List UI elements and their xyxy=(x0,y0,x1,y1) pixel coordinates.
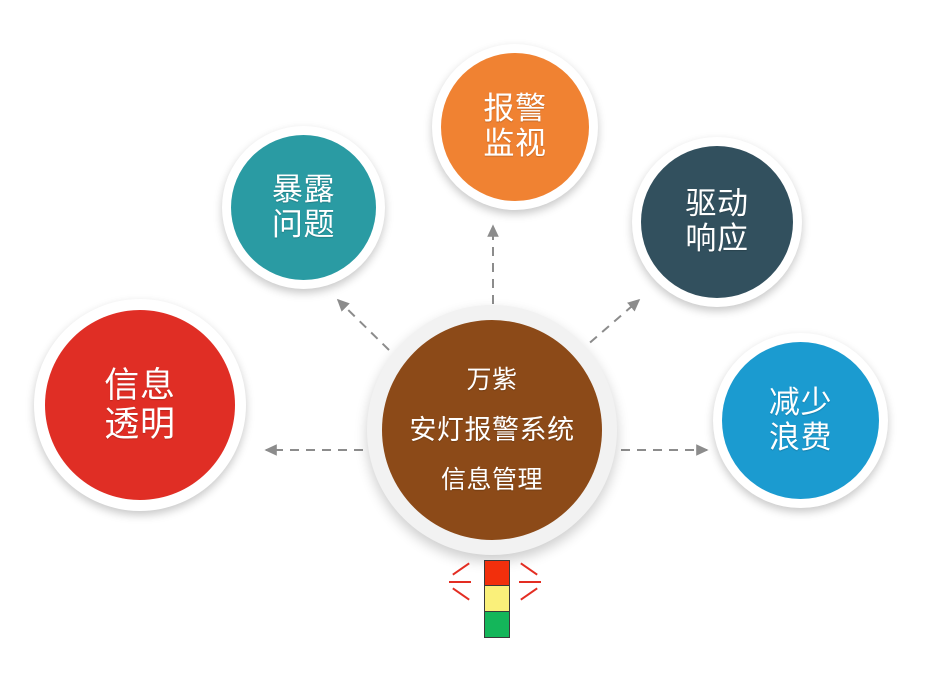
satellite-node-waste-line-1: 减少 xyxy=(769,386,832,421)
satellite-node-drive-disc: 驱动 响应 xyxy=(641,146,793,298)
satellite-node-info-line-2: 透明 xyxy=(104,405,175,444)
center-node[interactable]: 万紫 安灯报警系统 信息管理 xyxy=(367,305,617,555)
satellite-node-info[interactable]: 信息 透明 xyxy=(34,299,246,511)
satellite-node-info-disc: 信息 透明 xyxy=(45,310,235,500)
andon-ray-right-down xyxy=(520,587,538,600)
satellite-node-alarm-line-2: 监视 xyxy=(483,127,546,162)
andon-lamp-green xyxy=(485,612,509,637)
andon-tower xyxy=(484,560,510,638)
andon-ray-right-mid xyxy=(519,581,541,583)
andon-lamp-red xyxy=(485,561,509,586)
center-node-disc: 万紫 安灯报警系统 信息管理 xyxy=(382,320,602,540)
satellite-node-drive[interactable]: 驱动 响应 xyxy=(632,137,802,307)
satellite-node-waste[interactable]: 减少 浪费 xyxy=(713,333,888,508)
diagram-canvas: 万紫 安灯报警系统 信息管理 暴露 问题 报警 监视 驱动 响应 信息 透明 xyxy=(0,0,939,680)
satellite-node-alarm[interactable]: 报警 监视 xyxy=(432,44,598,210)
andon-ray-right-up xyxy=(520,562,538,575)
center-node-line-1: 万紫 xyxy=(466,366,517,394)
satellite-node-expose-line-2: 问题 xyxy=(272,208,335,243)
satellite-node-waste-disc: 减少 浪费 xyxy=(722,342,879,499)
andon-lamp-yellow xyxy=(485,586,509,611)
satellite-node-drive-line-2: 响应 xyxy=(685,222,748,257)
satellite-node-expose-line-1: 暴露 xyxy=(272,173,335,208)
center-node-line-2: 安灯报警系统 xyxy=(409,415,574,445)
center-node-line-3: 信息管理 xyxy=(441,466,543,494)
connector-center-to-expose xyxy=(338,300,389,350)
satellite-node-info-line-1: 信息 xyxy=(104,366,175,405)
satellite-node-expose-disc: 暴露 问题 xyxy=(231,135,376,280)
satellite-node-waste-line-2: 浪费 xyxy=(769,421,832,456)
andon-ray-left-mid xyxy=(449,581,471,583)
satellite-node-drive-line-1: 驱动 xyxy=(685,187,748,222)
satellite-node-alarm-line-1: 报警 xyxy=(483,92,546,127)
andon-ray-left-up xyxy=(452,562,470,575)
connector-center-to-drive xyxy=(578,300,639,353)
andon-light-icon xyxy=(447,548,543,640)
andon-ray-left-down xyxy=(452,587,470,600)
satellite-node-alarm-disc: 报警 监视 xyxy=(441,53,589,201)
satellite-node-expose[interactable]: 暴露 问题 xyxy=(222,126,385,289)
